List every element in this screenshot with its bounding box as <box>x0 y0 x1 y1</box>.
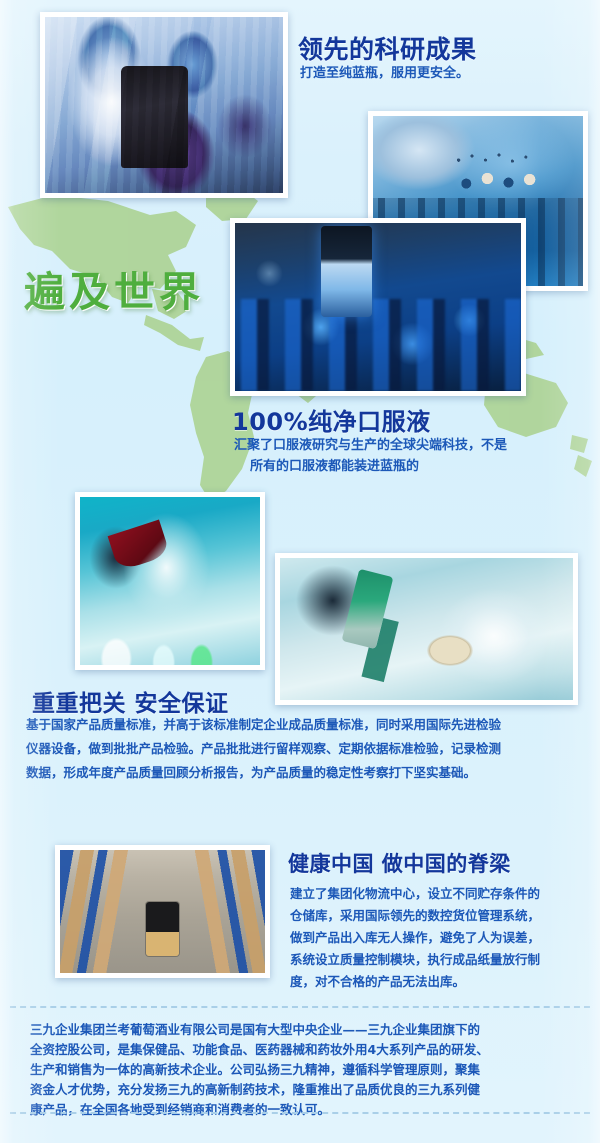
footer-line-2: 全资控股公司，是集保健品、功能食品、医药器械和药妆外用4大系列产品的研发、 <box>30 1040 489 1060</box>
section-heading-logistics: 健康中国 做中国的脊梁 <box>288 848 511 878</box>
section-body-quality-line-1: 基于国家产品质量标准，并高于该标准制定企业成品质量标准，同时采用国际先进检验 <box>26 715 501 734</box>
product-detail-page: 领先的科研成果 打造至纯蓝瓶，服用更安全。 遍及世界 100%纯净口服液 汇聚了… <box>0 0 600 1143</box>
photo-pipetting-petri-dish <box>275 553 578 705</box>
section-body-logistics-line-1: 建立了集团化物流中心，设立不同贮存条件的 <box>290 884 540 903</box>
footer-line-1: 三九企业集团兰考葡萄酒业有限公司是国有大型中央企业——三九企业集团旗下的 <box>30 1020 480 1040</box>
divider-bottom <box>10 1112 590 1114</box>
photo-scientist-flasks <box>75 492 265 670</box>
section-body-logistics-line-3: 做到产品出入库无人操作，避免了人为误差， <box>290 928 540 947</box>
footer-line-3: 生产和销售为一体的高新技术企业。公司弘扬三九精神，遵循科学管理原则，聚集 <box>30 1060 480 1080</box>
section-body-research: 打造至纯蓝瓶，服用更安全。 <box>300 64 469 84</box>
section-heading-quality: 重重把关 安全保证 <box>32 684 229 718</box>
photo-lab-microscope-workers <box>40 12 288 198</box>
photo-blue-vials-line <box>230 218 526 396</box>
section-body-quality-line-2: 仪器设备，做到批批产品检验。产品批批进行留样观察、定期依据标准检验，记录检测 <box>26 739 501 758</box>
section-body-logistics-line-4: 系统设立质量控制模块，执行成品纸量放行制 <box>290 950 540 969</box>
footer-line-5: 康产品，在全国各地受到经销商和消费者的一致认可。 <box>30 1100 330 1120</box>
map-label-worldwide: 遍及世界 <box>24 258 204 318</box>
section-body-quality-line-3: 数据，形成年度产品质量回顾分析报告，为产品质量的稳定性考察打下坚实基础。 <box>26 763 476 782</box>
photo-warehouse-forklift <box>55 845 270 978</box>
divider-top <box>10 1006 590 1008</box>
section-body-logistics-line-2: 仓储库，采用国际领先的数控货位管理系统， <box>290 906 540 925</box>
section-body-purity-line-2: 所有的口服液都能装进蓝瓶的 <box>250 457 419 477</box>
section-heading-purity: 100%纯净口服液 <box>232 402 431 437</box>
section-body-logistics-line-5: 度，对不合格的产品无法出库。 <box>290 972 465 991</box>
footer-line-4: 资金人才优势，充分发扬三九的高新制药技术，隆重推出了品质优良的三九系列健 <box>30 1080 480 1100</box>
section-heading-research: 领先的科研成果 <box>298 30 477 66</box>
section-body-purity-line-1: 汇聚了口服液研究与生产的全球尖端科技，不是 <box>234 436 507 456</box>
